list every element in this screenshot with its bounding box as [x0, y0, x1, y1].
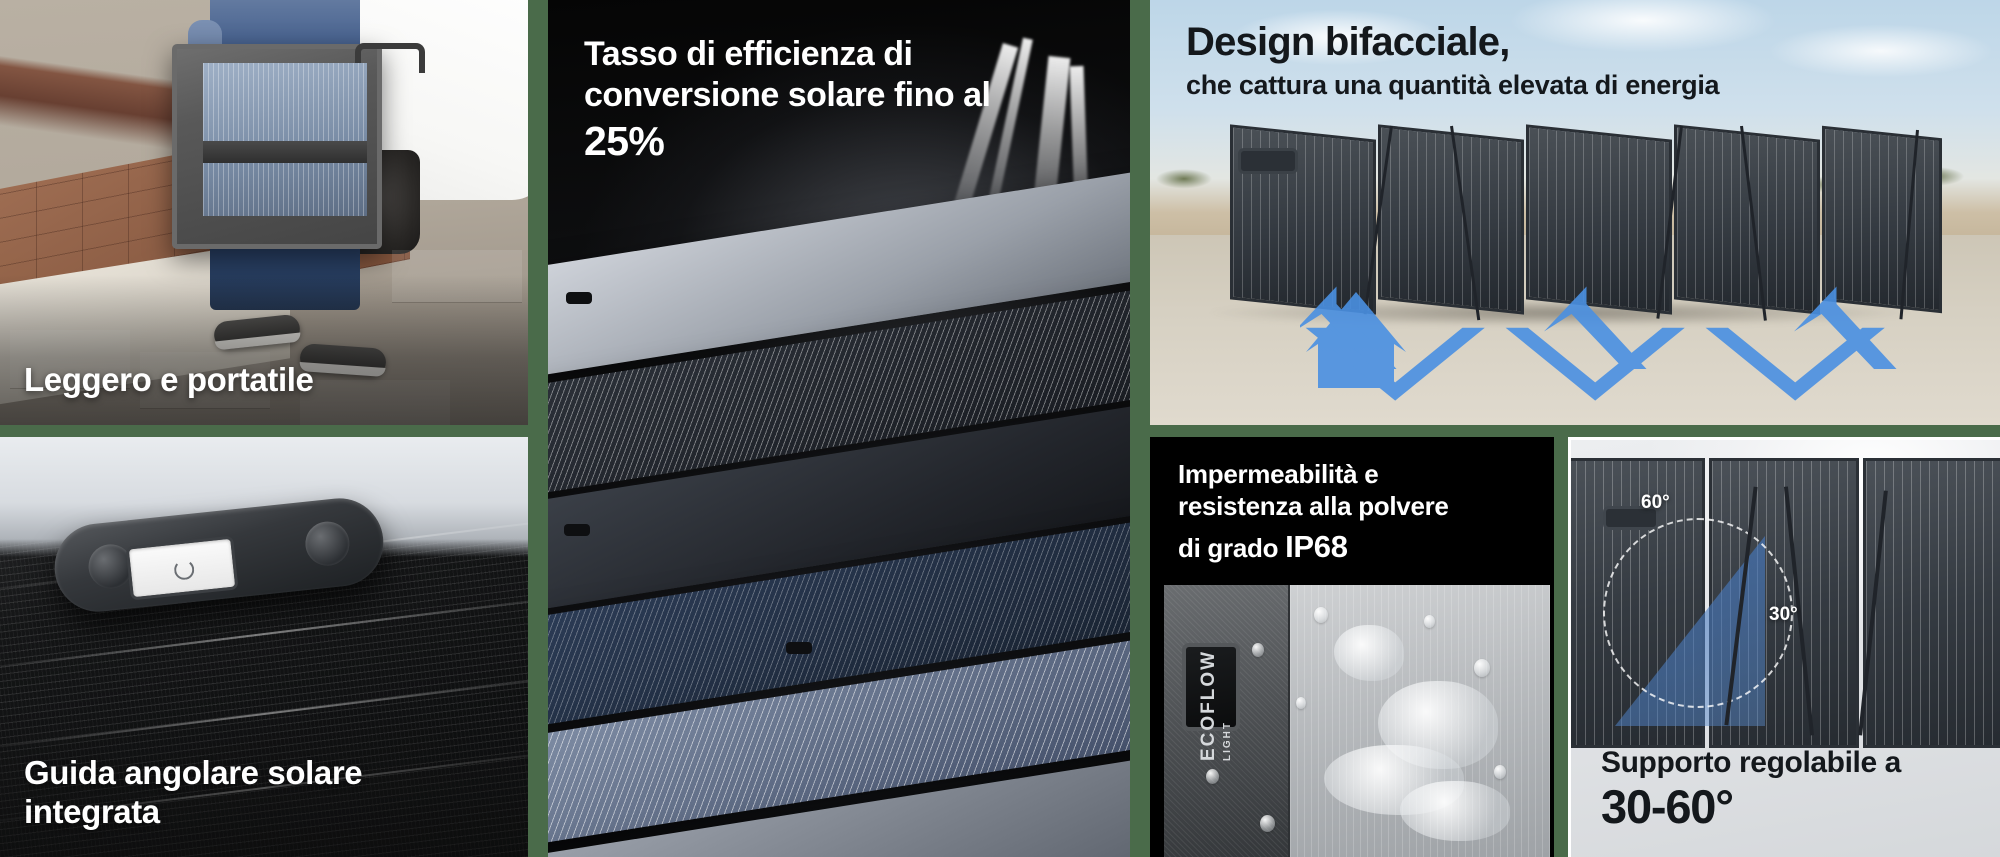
panel-corner-grommet — [786, 642, 812, 654]
bifacial-subtitle: che cattura una quantità elevata di ener… — [1186, 70, 1980, 101]
ip68-text-block: Impermeabilità e resistenza alla polvere… — [1178, 459, 1538, 566]
water-droplet — [1260, 815, 1275, 832]
efficiency-text-block: Tasso di efficienza di conversione solar… — [584, 34, 1104, 165]
panel-ip68-rating: Impermeabilità e resistenza alla polvere… — [1150, 437, 1554, 857]
angle-arc-dashed — [1603, 518, 1793, 708]
divider-vertical-bottom-right — [1554, 437, 1568, 857]
case-strap-band — [203, 141, 367, 163]
caption-line-1: Guida angolare solare — [24, 754, 362, 792]
efficiency-value: 25% — [584, 118, 1104, 165]
feature-collage: Leggero e portatile Tasso di efficienza … — [0, 0, 2000, 857]
water-droplet — [1474, 659, 1490, 677]
folded-solar-panel-case — [172, 44, 382, 249]
carry-handle — [1238, 148, 1298, 174]
water-droplet — [1296, 697, 1306, 709]
panel-conversion-efficiency: Tasso di efficienza di conversione solar… — [548, 0, 1130, 857]
ip68-line-2: resistenza alla polvere — [1178, 491, 1538, 523]
kickstand-caption: Supporto regolabile a — [1601, 746, 1901, 780]
divider-horizontal-right — [1150, 425, 2000, 437]
water-droplet — [1252, 643, 1264, 657]
water-droplet — [1206, 769, 1219, 784]
panel-adjustable-kickstand: 60° 30° Supporto regolabile a 30-60° — [1568, 437, 2000, 857]
water-droplet — [1494, 765, 1506, 779]
solar-cell-surface — [203, 63, 367, 216]
ip68-rating-badge: IP68 — [1285, 529, 1348, 564]
ip68-prefix: di grado — [1178, 533, 1285, 563]
kickstand-range: 30-60° — [1601, 782, 1901, 831]
ecoflow-brand-mark: ECOFLOW LIGHT — [1198, 650, 1233, 761]
bifacial-text-block: Design bifacciale, che cattura una quant… — [1186, 20, 1980, 101]
angle-dial-window — [125, 536, 238, 601]
water-splash — [1400, 781, 1510, 841]
guide-knob-right — [303, 519, 351, 567]
water-splash — [1334, 625, 1404, 681]
brand-sub: LIGHT — [1222, 650, 1233, 761]
divider-horizontal-left — [0, 425, 528, 437]
divider-vertical-right — [1130, 0, 1150, 857]
panel-angle-guide: Guida angolare solare integrata — [0, 437, 528, 857]
efficiency-headline: Tasso di efficienza di conversione solar… — [584, 34, 1104, 116]
panel-lightweight-portable: Leggero e portatile — [0, 0, 528, 425]
light-reflection-arrows — [1300, 280, 2000, 425]
kickstand-text-block: Supporto regolabile a 30-60° — [1601, 746, 1901, 831]
bifacial-title: Design bifacciale, — [1186, 20, 1980, 64]
caption-scrim — [0, 275, 528, 425]
water-splash-photo: ECOFLOW LIGHT — [1164, 585, 1550, 857]
ip68-line-3: di grado IP68 — [1178, 528, 1538, 566]
caption-line-2: integrata — [24, 793, 362, 831]
water-droplet — [1424, 615, 1435, 628]
panel-corner-grommet — [566, 292, 592, 304]
brand-name: ECOFLOW — [1198, 650, 1219, 761]
panel-corner-grommet — [564, 524, 590, 536]
divider-vertical-left — [528, 0, 548, 857]
caption-angle-guide: Guida angolare solare integrata — [24, 754, 362, 831]
water-droplet — [1314, 607, 1328, 623]
angle-label-max: 60° — [1641, 492, 1670, 514]
ip68-line-1: Impermeabilità e — [1178, 459, 1538, 491]
angle-label-min: 30° — [1769, 604, 1798, 626]
caption-lightweight-portable: Leggero e portatile — [24, 361, 313, 399]
panel-bifacial-design: Design bifacciale, che cattura una quant… — [1150, 0, 2000, 425]
